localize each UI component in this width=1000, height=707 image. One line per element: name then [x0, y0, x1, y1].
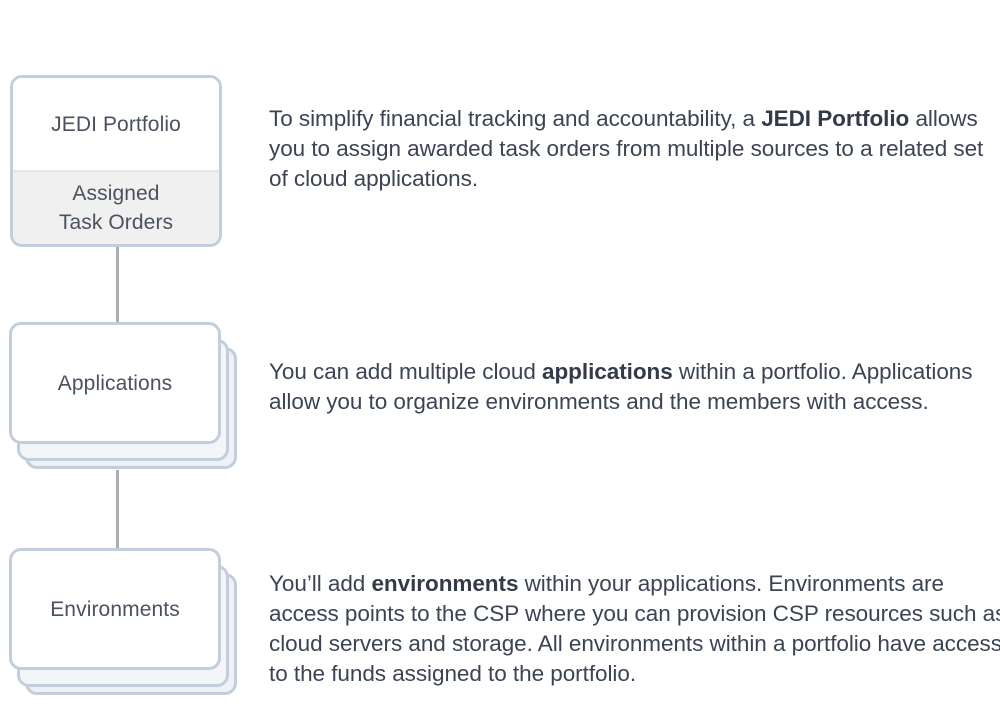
description-applications-emphasis: applications	[542, 359, 673, 384]
node-jedi-portfolio[interactable]: JEDI Portfolio Assigned Task Orders	[10, 75, 222, 247]
node-assigned-task-orders-section: Assigned Task Orders	[13, 172, 219, 244]
node-jedi-portfolio-title-section: JEDI Portfolio	[13, 78, 219, 172]
connector-portfolio-to-applications	[116, 247, 119, 323]
description-environments: You’ll add environments within your appl…	[269, 569, 1000, 689]
node-environments[interactable]: Environments	[0, 548, 250, 700]
description-portfolio: To simplify financial tracking and accou…	[269, 104, 1000, 194]
environments-stack-layer-front[interactable]: Environments	[9, 548, 221, 670]
description-applications: You can add multiple cloud applications …	[269, 357, 1000, 417]
description-applications-part1: You can add multiple cloud	[269, 359, 542, 384]
node-environments-label: Environments	[50, 595, 180, 624]
description-environments-emphasis: environments	[371, 571, 518, 596]
description-portfolio-part1: To simplify financial tracking and accou…	[269, 106, 761, 131]
description-column: To simplify financial tracking and accou…	[269, 0, 1000, 707]
node-assigned-task-orders-label: Assigned Task Orders	[59, 179, 173, 237]
connector-applications-to-environments	[116, 470, 119, 552]
assigned-task-orders-line-1: Assigned	[72, 182, 159, 205]
node-applications-label: Applications	[58, 369, 172, 398]
diagram-column: JEDI Portfolio Assigned Task Orders Appl…	[0, 0, 250, 707]
description-portfolio-emphasis: JEDI Portfolio	[761, 106, 909, 131]
description-environments-part1: You’ll add	[269, 571, 371, 596]
assigned-task-orders-line-2: Task Orders	[59, 211, 173, 234]
applications-stack-layer-front[interactable]: Applications	[9, 322, 221, 444]
node-jedi-portfolio-label: JEDI Portfolio	[51, 110, 181, 139]
node-applications[interactable]: Applications	[0, 322, 250, 472]
